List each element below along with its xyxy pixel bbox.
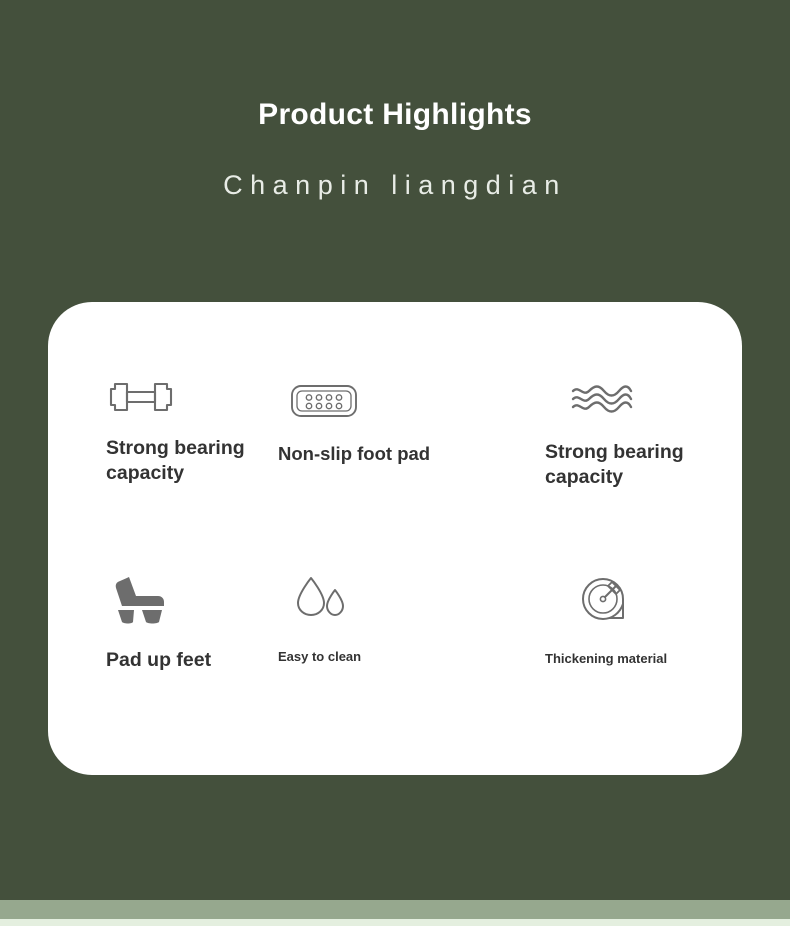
highlights-card: Strong bearing capacity [48,302,742,775]
highlight-item-non-slip-foot-pad[interactable]: Non-slip foot pad [260,378,485,550]
dumbbell-icon [106,378,260,416]
highlight-item-strong-bearing-capacity-2[interactable]: Strong bearing capacity [485,378,742,550]
bottom-band-mint [0,919,790,926]
thickness-gauge-icon [579,574,742,626]
highlights-row-bottom: Pad up feet Easy to clean [48,550,742,724]
foot-pad-icon [290,382,485,420]
highlight-label: Non-slip foot pad [278,442,485,466]
page-header: Product Highlights Chanpin liangdian [0,0,790,201]
highlight-label: Thickening material [545,651,742,668]
wave-lines-icon [571,384,742,414]
highlight-item-strong-bearing-capacity-1[interactable]: Strong bearing capacity [48,378,260,550]
highlights-row-top: Strong bearing capacity [48,378,742,550]
highlights-grid: Strong bearing capacity [48,302,742,775]
bottom-band-sage [0,900,790,919]
page-subtitle: Chanpin liangdian [0,131,790,201]
highlight-label: Pad up feet [106,648,260,673]
water-drops-icon [294,574,485,622]
highlight-label: Strong bearing capacity [106,436,281,486]
highlight-item-pad-up-feet[interactable]: Pad up feet [48,574,260,724]
highlight-item-easy-to-clean[interactable]: Easy to clean [260,574,485,724]
page-title: Product Highlights [0,0,790,131]
product-highlights-page: Product Highlights Chanpin liangdian Str… [0,0,790,926]
lounge-chair-icon [112,574,260,626]
highlight-label: Strong bearing capacity [545,440,720,490]
highlight-label: Easy to clean [278,649,485,666]
highlight-item-thickening-material[interactable]: Thickening material [485,574,742,724]
